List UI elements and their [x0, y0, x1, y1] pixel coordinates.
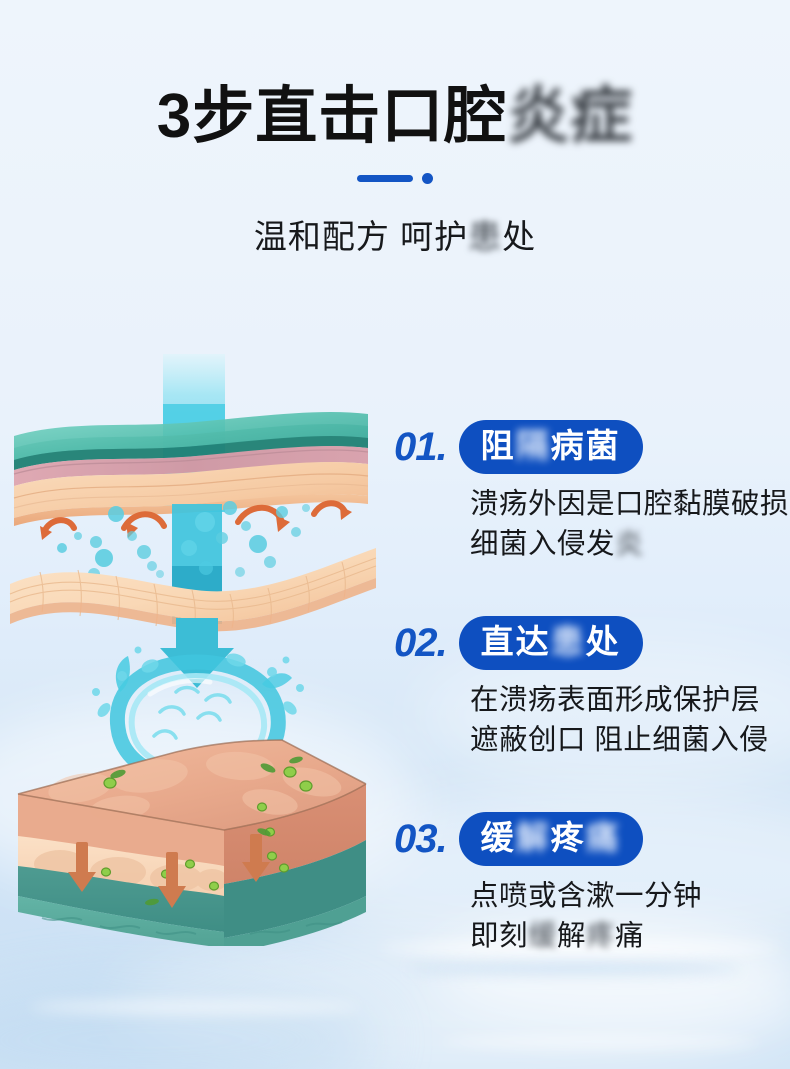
page-title: 3步直击口腔炎症	[0, 0, 790, 148]
text-run: 痛	[615, 920, 644, 952]
step-description-line: 即刻缓解疼痛	[470, 916, 790, 956]
page-subtitle-part1: 温和配方 呵护	[254, 218, 468, 255]
badge-part: 缓	[481, 818, 516, 858]
badge-part: 病菌	[551, 426, 621, 466]
water-ripple-decor	[410, 963, 740, 974]
badge-part: 直达	[481, 622, 551, 662]
tissue-block	[18, 740, 366, 946]
title-divider	[0, 170, 790, 186]
text-run: 遮蔽创口 阻止细菌入侵	[470, 724, 768, 756]
step-description: 溃疡外因是口腔黏膜破损 细菌入侵发炎	[394, 484, 790, 565]
badge-part-censored: 患	[551, 622, 586, 662]
step-description-line: 点喷或含漱一分钟	[470, 876, 790, 916]
page-header: 3步直击口腔炎症 温和配方 呵护患处	[0, 0, 790, 258]
text-run: 在溃疡表面形成保护层	[470, 684, 760, 716]
step-item: 02. 直达患处 在溃疡表面形成保护层 遮蔽创口 阻止细菌入侵	[394, 616, 790, 761]
text-run: 即刻	[470, 920, 528, 952]
oral-mucosa-layers-diagram	[0, 336, 400, 946]
step-number: 03.	[394, 819, 447, 859]
text-run-censored: 疼	[586, 916, 615, 956]
badge-part-censored: 解	[516, 818, 551, 858]
step-description-line: 细菌入侵发炎	[470, 524, 790, 564]
text-run-censored: 缓	[528, 916, 557, 956]
step-badge: 直达患处	[459, 616, 643, 671]
divider-dot	[422, 173, 433, 184]
step-header: 02. 直达患处	[394, 616, 790, 670]
water-ripple-decor	[440, 1036, 760, 1048]
page-subtitle-part2: 处	[502, 218, 536, 255]
badge-part-censored: 痛	[586, 818, 621, 858]
step-description-line: 在溃疡表面形成保护层	[470, 680, 790, 720]
water-ripple-decor	[30, 1000, 360, 1014]
text-run: 点喷或含漱一分钟	[470, 880, 702, 912]
badge-part: 处	[586, 622, 621, 662]
text-run-censored: 炎	[615, 524, 644, 564]
step-badge: 缓解疼痛	[459, 812, 643, 867]
step-item: 03. 缓解疼痛 点喷或含漱一分钟 即刻缓解疼痛	[394, 812, 790, 957]
divider-bar	[357, 175, 413, 182]
page-subtitle-censored: 患	[468, 210, 502, 258]
step-number: 02.	[394, 623, 447, 663]
step-description: 在溃疡表面形成保护层 遮蔽创口 阻止细菌入侵	[394, 680, 790, 761]
page-subtitle: 温和配方 呵护患处	[0, 186, 790, 258]
text-run: 解	[557, 920, 586, 952]
step-description-line: 溃疡外因是口腔黏膜破损	[470, 484, 790, 524]
page-title-visible: 3步直击口腔	[157, 82, 507, 151]
step-description-line: 遮蔽创口 阻止细菌入侵	[470, 720, 790, 760]
water-haze-decor	[0, 980, 380, 1069]
badge-part-censored: 隔	[516, 426, 551, 466]
step-item: 01. 阻隔病菌 溃疡外因是口腔黏膜破损 细菌入侵发炎	[394, 420, 790, 565]
page-title-censored: 炎症	[507, 85, 633, 148]
step-number: 01.	[394, 427, 447, 467]
step-description: 点喷或含漱一分钟 即刻缓解疼痛	[394, 876, 790, 957]
text-run: 细菌入侵发	[470, 528, 615, 560]
badge-part: 疼	[551, 818, 586, 858]
steps-list: 01. 阻隔病菌 溃疡外因是口腔黏膜破损 细菌入侵发炎 02. 直达患处 在溃疡…	[394, 420, 790, 957]
text-run: 溃疡外因是口腔黏膜破损	[470, 488, 789, 520]
step-badge: 阻隔病菌	[459, 420, 643, 475]
step-header: 03. 缓解疼痛	[394, 812, 790, 866]
badge-part: 阻	[481, 426, 516, 466]
step-header: 01. 阻隔病菌	[394, 420, 790, 474]
promo-page: 3步直击口腔炎症 温和配方 呵护患处	[0, 0, 790, 1069]
